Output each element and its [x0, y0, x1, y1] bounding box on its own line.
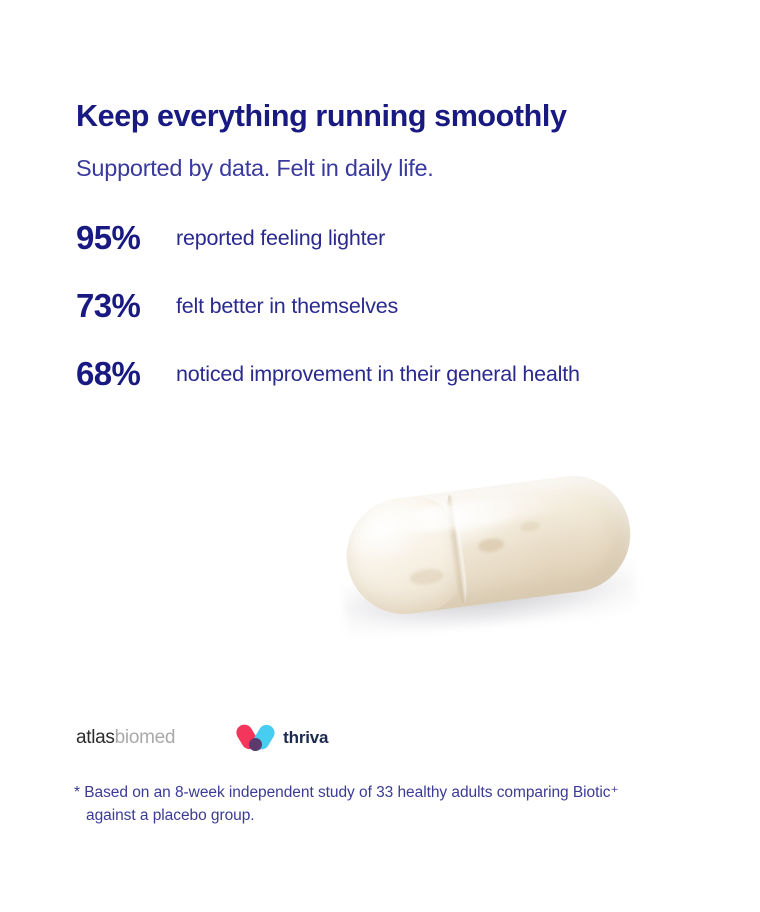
page-subtitle: Supported by data. Felt in daily life.	[76, 154, 696, 182]
stat-label: reported feeling lighter	[176, 224, 606, 253]
footnote-text: * Based on an 8-week independent study o…	[74, 781, 646, 828]
stat-label: noticed improvement in their general hea…	[176, 360, 606, 389]
atlasbiomed-logo: atlasbiomed	[76, 728, 175, 747]
brand-logos: atlasbiomed thriva	[76, 722, 328, 752]
stat-value: 73%	[76, 287, 171, 325]
thriva-heart-mark-icon	[238, 724, 272, 751]
promo-card: Keep everything running smoothly Support…	[0, 0, 760, 912]
product-image	[330, 465, 660, 655]
list-item: 73% felt better in themselves	[76, 287, 696, 349]
thriva-mark-overlap	[249, 738, 262, 751]
thriva-wordmark: thriva	[283, 729, 328, 746]
page-title: Keep everything running smoothly	[76, 99, 696, 133]
capsule-highlight	[371, 489, 563, 540]
capsule-texture-speck	[519, 520, 540, 533]
atlasbiomed-logo-part-two: biomed	[115, 727, 176, 748]
stat-value: 95%	[76, 219, 171, 257]
thriva-logo: thriva	[238, 724, 328, 751]
list-item: 68% noticed improvement in their general…	[76, 355, 696, 417]
statistics-list: 95% reported feeling lighter 73% felt be…	[76, 219, 696, 405]
stat-label: felt better in themselves	[176, 292, 606, 321]
list-item: 95% reported feeling lighter	[76, 219, 696, 281]
stat-value: 68%	[76, 355, 171, 393]
atlasbiomed-logo-part-one: atlas	[76, 727, 115, 748]
capsule-texture-speck	[477, 537, 504, 553]
